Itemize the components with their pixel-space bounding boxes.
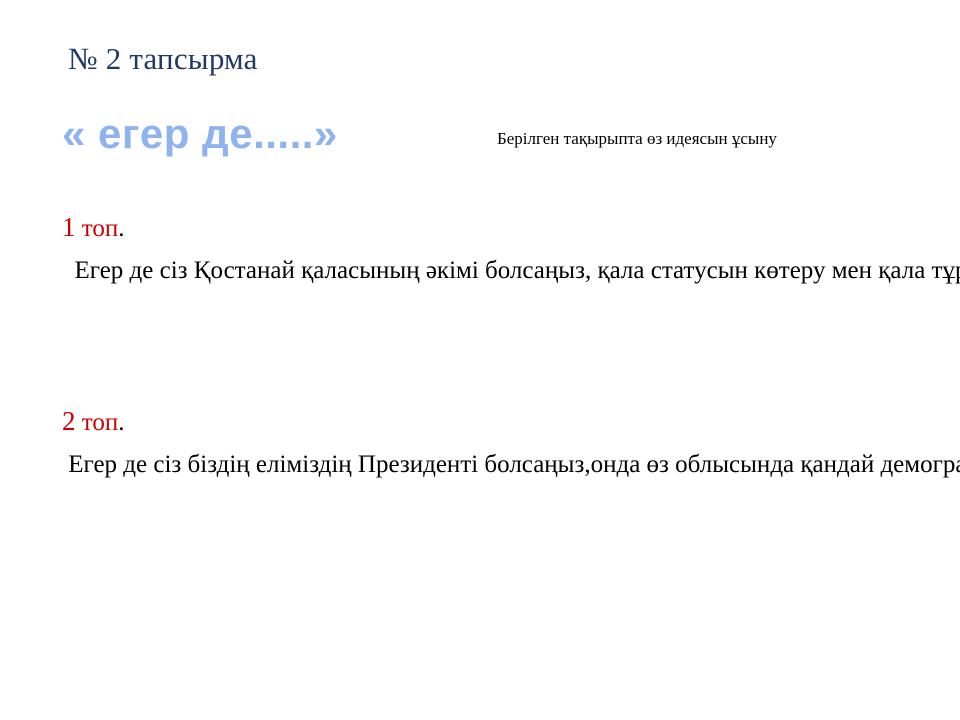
task-paragraph-2: 2 топ. Егер де сіз біздің еліміздің През… xyxy=(62,400,902,486)
group-number-2: 2 xyxy=(62,406,76,436)
slide-heading: « егер де.....» xyxy=(62,111,338,157)
heading-note: Берілген тақырыпта өз идеясын ұсыну xyxy=(497,129,777,149)
group-number-1: 1 xyxy=(62,212,76,242)
task-text-1: Егер де сіз Қостанай қаласының әкімі бол… xyxy=(62,257,960,284)
page-title: № 2 тапсырма xyxy=(68,41,258,77)
group-word-1: топ xyxy=(76,215,119,242)
presentation-slide: № 2 тапсырма « егер де.....» Берілген та… xyxy=(0,0,960,720)
group-label-1: 1 топ xyxy=(62,215,118,242)
group-label-2: 2 топ xyxy=(62,409,118,436)
task-text-2: Егер де сіз біздің еліміздің Президенті … xyxy=(62,451,960,478)
group-suffix-2: . xyxy=(118,409,124,436)
task-paragraph-1: 1 топ. Егер де сіз Қостанай қаласының әк… xyxy=(62,206,902,292)
group-word-2: топ xyxy=(76,409,119,436)
group-suffix-1: . xyxy=(118,215,124,242)
